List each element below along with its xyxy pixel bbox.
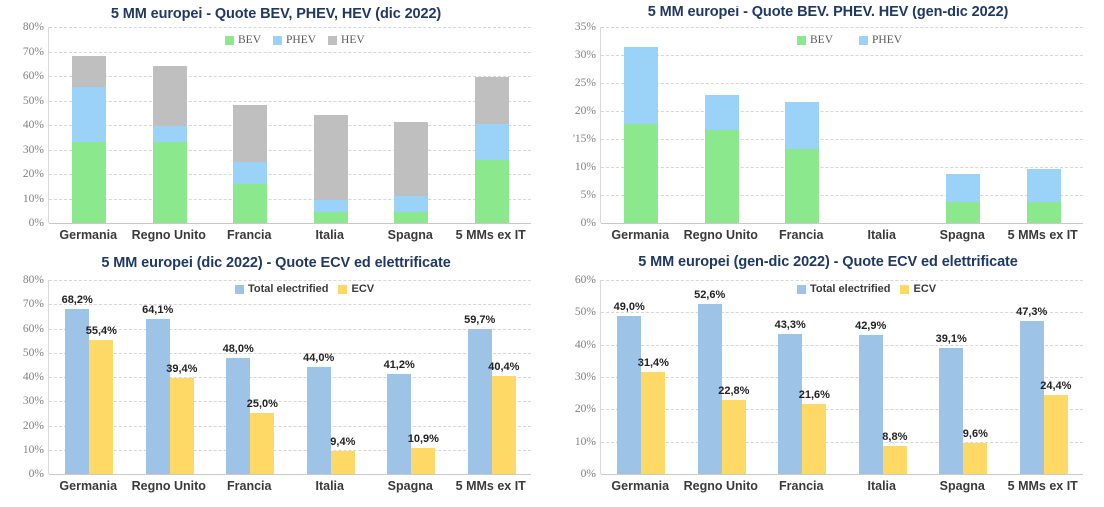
x-axis-tick: 5 MMs ex IT: [451, 228, 532, 242]
x-axis-tick: Spagna: [922, 228, 1003, 242]
bar-segment-bev[interactable]: [394, 212, 428, 223]
x-axis-tick: Francia: [761, 228, 842, 242]
gridline: [49, 174, 531, 175]
bar-segment-phev[interactable]: [785, 102, 819, 148]
chart-legend: Total electrifiedECV: [797, 283, 936, 295]
chart-title: 5 MM europei (gen-dic 2022) - Quote ECV …: [552, 254, 1104, 270]
y-axis-tick: 5%: [560, 189, 596, 201]
data-label: 41,2%: [384, 359, 415, 371]
bar-stack[interactable]: [785, 27, 819, 223]
y-axis-tick: 0%: [560, 217, 596, 229]
gridline: [49, 426, 531, 427]
x-axis-tick: Italia: [842, 479, 923, 493]
bar-ecv[interactable]: [722, 400, 746, 474]
y-axis-tick: 30%: [560, 49, 596, 61]
chart-chart-bev-phev-hev-gen-dic: 5 MM europei - Quote BEV. PHEV. HEV (gen…: [552, 0, 1104, 252]
legend-item-total-electrified[interactable]: Total electrified: [235, 283, 328, 295]
bar-total-electrified[interactable]: [1020, 321, 1044, 474]
legend-label: Total electrified: [248, 283, 328, 295]
bar-segment-phev[interactable]: [72, 87, 106, 141]
bar-total-electrified[interactable]: [939, 348, 963, 474]
y-axis-tick: 50%: [560, 306, 596, 318]
y-axis-tick: 50%: [10, 347, 44, 359]
bar-segment-phev[interactable]: [233, 162, 267, 185]
bar-stack[interactable]: [946, 27, 980, 223]
data-label: 42,9%: [855, 320, 886, 332]
bar-ecv[interactable]: [883, 446, 907, 474]
x-axis-tick: Regno Unito: [681, 228, 762, 242]
gridline: [601, 377, 1083, 378]
gridline: [49, 27, 531, 28]
legend-swatch-icon: [328, 36, 337, 45]
y-axis-tick: 0%: [560, 468, 596, 480]
bar-ecv[interactable]: [802, 404, 826, 474]
bar-total-electrified[interactable]: [226, 358, 250, 474]
data-label: 59,7%: [464, 314, 495, 326]
data-label: 47,3%: [1016, 306, 1047, 318]
bar-total-electrified[interactable]: [859, 335, 883, 474]
legend-label: PHEV: [872, 34, 902, 46]
data-label: 21,6%: [799, 389, 830, 401]
y-axis-tick: 10%: [10, 444, 44, 456]
data-label: 48,0%: [223, 343, 254, 355]
legend-swatch-icon: [273, 36, 282, 45]
x-axis-tick: Francia: [209, 228, 290, 242]
y-axis-tick: 40%: [560, 339, 596, 351]
gridline: [49, 125, 531, 126]
gridline: [49, 101, 531, 102]
y-axis-tick: 30%: [10, 144, 44, 156]
gridline: [601, 167, 1083, 168]
bar-segment-bev[interactable]: [72, 142, 106, 223]
bar-stack[interactable]: [72, 27, 106, 223]
x-axis-line: [49, 223, 531, 224]
gridline: [601, 312, 1083, 313]
legend-swatch-icon: [338, 285, 347, 294]
x-axis-tick: Germania: [48, 479, 129, 493]
gridline: [49, 377, 531, 378]
y-axis-tick: 70%: [10, 46, 44, 58]
legend-swatch-icon: [900, 285, 909, 294]
gridline: [49, 450, 531, 451]
x-axis-tick: Spagna: [370, 479, 451, 493]
gridline: [601, 139, 1083, 140]
x-axis-tick: Spagna: [922, 479, 1003, 493]
y-axis-tick: 20%: [560, 403, 596, 415]
y-axis-tick: 60%: [560, 274, 596, 286]
x-axis-line: [601, 223, 1083, 224]
data-label: 39,1%: [936, 333, 967, 345]
x-axis-tick: Italia: [290, 479, 371, 493]
chart-legend: BEVPHEVHEV: [225, 34, 365, 46]
bar-segment-bev[interactable]: [475, 160, 509, 223]
legend-item-bev[interactable]: BEV: [225, 34, 261, 46]
gridline: [49, 401, 531, 402]
legend-item-ecv[interactable]: ECV: [900, 283, 936, 295]
gridline: [49, 150, 531, 151]
y-axis-tick: 0%: [10, 217, 44, 229]
bar-segment-bev[interactable]: [314, 212, 348, 223]
bar-stack[interactable]: [153, 27, 187, 223]
bar-segment-phev[interactable]: [394, 196, 428, 211]
data-label: 9,6%: [963, 428, 988, 440]
y-axis-tick: 60%: [10, 323, 44, 335]
x-axis-tick: Italia: [842, 228, 923, 242]
x-axis-line: [49, 474, 531, 475]
x-axis-tick: Germania: [600, 479, 681, 493]
y-axis-tick: 0%: [10, 468, 44, 480]
x-axis-tick: Francia: [761, 479, 842, 493]
y-axis-tick: 60%: [10, 70, 44, 82]
bar-segment-hev[interactable]: [475, 77, 509, 125]
y-axis-tick: 50%: [10, 95, 44, 107]
data-label: 68,2%: [62, 294, 93, 306]
chart-chart-ecv-elettrificate-gen-dic: 5 MM europei (gen-dic 2022) - Quote ECV …: [552, 252, 1104, 507]
x-axis-tick: Germania: [48, 228, 129, 242]
data-label: 52,6%: [694, 289, 725, 301]
chart-chart-bev-phev-hev-dic: 5 MM europei - Quote BEV, PHEV, HEV (dic…: [0, 0, 552, 252]
bar-segment-phev[interactable]: [705, 95, 739, 130]
x-axis-tick: Germania: [600, 228, 681, 242]
bar-total-electrified[interactable]: [617, 316, 641, 474]
gridline: [49, 76, 531, 77]
bar-stack[interactable]: [866, 27, 900, 223]
legend-item-ecv[interactable]: ECV: [338, 283, 374, 295]
bar-ecv[interactable]: [492, 376, 516, 474]
legend-item-total-electrified[interactable]: Total electrified: [797, 283, 890, 295]
legend-swatch-icon: [225, 36, 234, 45]
data-label: 24,4%: [1040, 380, 1071, 392]
bar-segment-hev[interactable]: [394, 122, 428, 196]
data-label: 39,4%: [166, 363, 197, 375]
y-axis-tick: 25%: [560, 77, 596, 89]
gridline: [49, 304, 531, 305]
chart-legend: Total electrifiedECV: [235, 283, 374, 295]
bar-stack[interactable]: [705, 27, 739, 223]
legend-item-phev[interactable]: PHEV: [859, 34, 902, 46]
data-label: 44,0%: [303, 352, 334, 364]
bar-segment-hev[interactable]: [72, 56, 106, 87]
bar-segment-bev[interactable]: [705, 130, 739, 223]
data-label: 43,3%: [775, 319, 806, 331]
bar-segment-phev[interactable]: [475, 124, 509, 159]
chart-chart-ecv-elettrificate-dic: 5 MM europei (dic 2022) - Quote ECV ed e…: [0, 252, 552, 507]
x-axis-tick: 5 MMs ex IT: [451, 479, 532, 493]
bar-segment-bev[interactable]: [946, 202, 980, 223]
legend-item-hev[interactable]: HEV: [328, 34, 365, 46]
legend-label: ECV: [913, 283, 936, 295]
data-label: 49,0%: [614, 301, 645, 313]
gridline: [601, 409, 1083, 410]
data-label: 9,4%: [330, 436, 355, 448]
x-axis-tick: Regno Unito: [129, 479, 210, 493]
data-label: 25,0%: [247, 398, 278, 410]
bar-total-electrified[interactable]: [387, 374, 411, 474]
data-label: 10,9%: [408, 433, 439, 445]
legend-label: ECV: [351, 283, 374, 295]
bar-total-electrified[interactable]: [778, 334, 802, 474]
bar-ecv[interactable]: [641, 372, 665, 474]
x-axis-tick: Spagna: [370, 228, 451, 242]
chart-title: 5 MM europei - Quote BEV, PHEV, HEV (dic…: [0, 6, 552, 22]
chart-title: 5 MM europei - Quote BEV. PHEV. HEV (gen…: [552, 4, 1104, 20]
x-axis-line: [601, 474, 1083, 475]
data-label: 8,8%: [882, 431, 907, 443]
bar-segment-phev[interactable]: [946, 174, 980, 203]
chart-legend: BEVPHEV: [797, 34, 902, 46]
bar-total-electrified[interactable]: [468, 329, 492, 474]
bar-ecv[interactable]: [331, 451, 355, 474]
data-label: 40,4%: [488, 361, 519, 373]
legend-swatch-icon: [235, 285, 244, 294]
gridline: [601, 27, 1083, 28]
bar-stack[interactable]: [394, 27, 428, 223]
slide-canvas: 5 MM europei - Quote BEV, PHEV, HEV (dic…: [0, 0, 1104, 507]
legend-label: HEV: [341, 34, 365, 46]
y-axis-tick: 20%: [560, 105, 596, 117]
gridline: [601, 55, 1083, 56]
y-axis-tick: 20%: [10, 420, 44, 432]
gridline: [49, 353, 531, 354]
legend-label: BEV: [810, 34, 833, 46]
x-axis-tick: Regno Unito: [129, 228, 210, 242]
bar-stack[interactable]: [624, 27, 658, 223]
gridline: [49, 329, 531, 330]
plot-area: 49,0%31,4%52,6%22,8%43,3%21,6%42,9%8,8%3…: [600, 280, 1083, 474]
y-axis-tick: 30%: [10, 395, 44, 407]
gridline: [601, 195, 1083, 196]
y-axis-tick: 10%: [560, 161, 596, 173]
legend-label: PHEV: [286, 34, 316, 46]
bar-segment-bev[interactable]: [153, 142, 187, 223]
legend-swatch-icon: [797, 36, 806, 45]
bar-segment-hev[interactable]: [153, 66, 187, 127]
bar-segment-hev[interactable]: [314, 115, 348, 200]
x-axis-tick: 5 MMs ex IT: [1003, 479, 1084, 493]
y-axis-tick: 10%: [560, 436, 596, 448]
x-axis-tick: 5 MMs ex IT: [1003, 228, 1084, 242]
chart-title: 5 MM europei (dic 2022) - Quote ECV ed e…: [0, 255, 552, 271]
y-axis-tick: 20%: [10, 168, 44, 180]
bar-ecv[interactable]: [963, 443, 987, 474]
bar-segment-bev[interactable]: [233, 184, 267, 223]
bar-segment-phev[interactable]: [1027, 169, 1061, 202]
gridline: [601, 442, 1083, 443]
gridline: [49, 52, 531, 53]
bar-segment-phev[interactable]: [314, 200, 348, 212]
plot-area: 33,2%22,2%12,8%32,9%6,5%24,7%15,8%9,2%23…: [48, 27, 531, 223]
bar-segment-bev[interactable]: [624, 124, 658, 223]
gridline: [49, 280, 531, 281]
y-axis-tick: '15%: [560, 133, 596, 145]
plot-area: 68,2%55,4%64,1%39,4%48,0%25,0%44,0%9,4%4…: [48, 280, 531, 474]
bar-ecv[interactable]: [170, 378, 194, 474]
gridline: [601, 345, 1083, 346]
y-axis-tick: 40%: [10, 119, 44, 131]
legend-label: BEV: [238, 34, 261, 46]
bar-total-electrified[interactable]: [146, 319, 170, 474]
bar-ecv[interactable]: [89, 340, 113, 474]
legend-swatch-icon: [797, 285, 806, 294]
x-axis-tick: Italia: [290, 228, 371, 242]
gridline: [601, 83, 1083, 84]
bar-ecv[interactable]: [411, 448, 435, 474]
x-axis-tick: Francia: [209, 479, 290, 493]
bar-segment-bev[interactable]: [1027, 202, 1061, 223]
y-axis-tick: 30%: [560, 371, 596, 383]
bar-ecv[interactable]: [250, 413, 274, 474]
bar-segment-phev[interactable]: [624, 47, 658, 124]
data-label: 55,4%: [86, 325, 117, 337]
bar-segment-phev[interactable]: [153, 126, 187, 142]
y-axis-tick: 70%: [10, 298, 44, 310]
y-axis-tick: 80%: [10, 21, 44, 33]
plot-area: 17,7%13,7%16,6%6,3%13,3%8,3%3,7%5,1%3,8%…: [600, 27, 1083, 223]
gridline: [601, 111, 1083, 112]
data-label: 22,8%: [718, 385, 749, 397]
bar-stack[interactable]: [475, 27, 509, 223]
y-axis-tick: 10%: [10, 193, 44, 205]
y-axis-tick: 40%: [10, 371, 44, 383]
data-label: 64,1%: [142, 304, 173, 316]
gridline: [601, 280, 1083, 281]
y-axis-tick: 80%: [10, 274, 44, 286]
bar-stack[interactable]: [1027, 27, 1061, 223]
bar-stack[interactable]: [233, 27, 267, 223]
legend-item-phev[interactable]: PHEV: [273, 34, 316, 46]
bar-stack[interactable]: [314, 27, 348, 223]
y-axis-tick: 35%: [560, 21, 596, 33]
bar-segment-hev[interactable]: [233, 105, 267, 161]
legend-swatch-icon: [859, 36, 868, 45]
bar-total-electrified[interactable]: [307, 367, 331, 474]
bar-ecv[interactable]: [1044, 395, 1068, 474]
bar-segment-bev[interactable]: [785, 149, 819, 223]
gridline: [49, 199, 531, 200]
data-label: 31,4%: [638, 357, 669, 369]
legend-label: Total electrified: [810, 283, 890, 295]
legend-item-bev[interactable]: BEV: [797, 34, 833, 46]
x-axis-tick: Regno Unito: [681, 479, 762, 493]
